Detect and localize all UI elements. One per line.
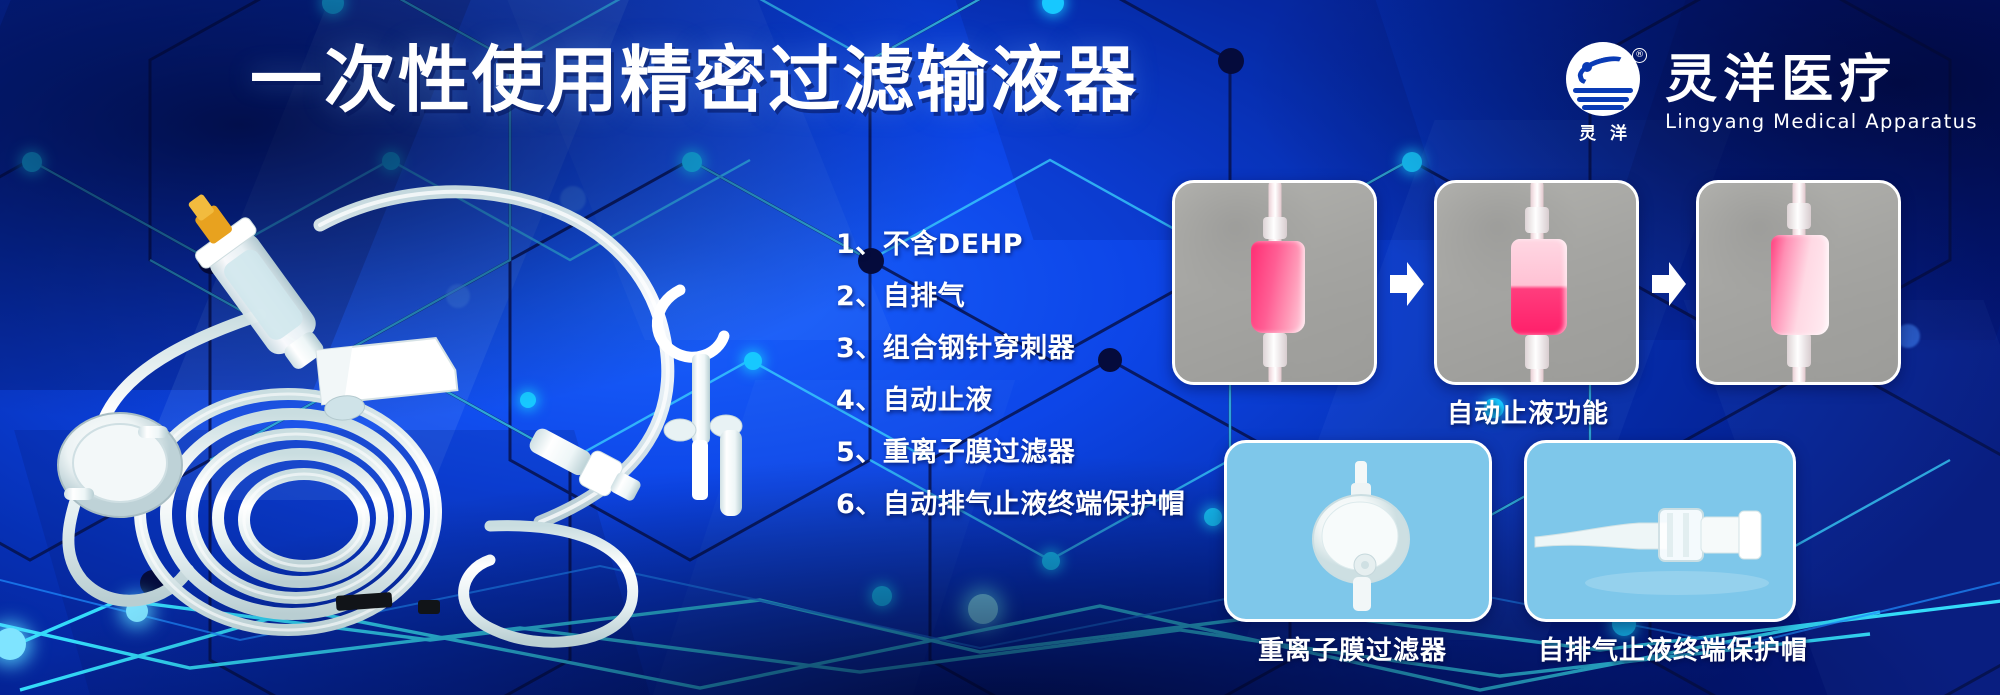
arrow-right-icon (1652, 262, 1686, 306)
gallery-photo-self-venting-cap (1524, 440, 1796, 622)
feature-list: 1、不含DEHP 2、自排气 3、组合钢针穿刺器 4、自动止液 5、重离子膜过滤… (836, 218, 1185, 530)
page-title: 一次性使用精密过滤输液器 (250, 44, 1138, 116)
gallery-caption-1: 重离子膜过滤器 (1258, 630, 1447, 667)
feature-item: 1、不含DEHP (836, 218, 1185, 270)
registered-mark-icon: ® (1632, 48, 1647, 63)
arrow-right-icon (1390, 262, 1424, 306)
feature-item: 2、自排气 (836, 270, 1185, 322)
sequence-caption: 自动止液功能 (1447, 393, 1609, 430)
feature-item: 5、重离子膜过滤器 (836, 426, 1185, 478)
feature-item: 4、自动止液 (836, 374, 1185, 426)
logo-emblem-label: 灵洋 (1557, 119, 1649, 144)
sequence-photo-3 (1696, 180, 1901, 385)
logo-emblem: ® 灵洋 (1557, 42, 1649, 144)
brand-name-cn: 灵洋医疗 (1665, 53, 1978, 108)
brand-logo: ® 灵洋 灵洋医疗 Lingyang Medical Apparatus (1557, 42, 1978, 144)
sequence-photo-1 (1172, 180, 1377, 385)
brand-name-en: Lingyang Medical Apparatus (1665, 110, 1978, 133)
terminal-cap-illustration (1527, 443, 1796, 622)
sequence-photo-2 (1434, 180, 1639, 385)
swimmer-wave-emblem-icon (1566, 42, 1640, 116)
filter-illustration (1227, 443, 1492, 622)
gallery-photo-heavy-ion-membrane-filter (1224, 440, 1492, 622)
gallery-caption-2: 自排气止液终端保护帽 (1538, 630, 1808, 667)
product-banner: 一次性使用精密过滤输液器 ® 灵洋 灵洋医疗 Lingyang Medical … (0, 0, 2000, 695)
feature-item: 3、组合钢针穿刺器 (836, 322, 1185, 374)
feature-item: 6、自动排气止液终端保护帽 (836, 478, 1185, 530)
infusion-set-illustration (20, 130, 780, 650)
product-image (20, 130, 780, 650)
logo-wordmark: 灵洋医疗 Lingyang Medical Apparatus (1665, 53, 1978, 134)
